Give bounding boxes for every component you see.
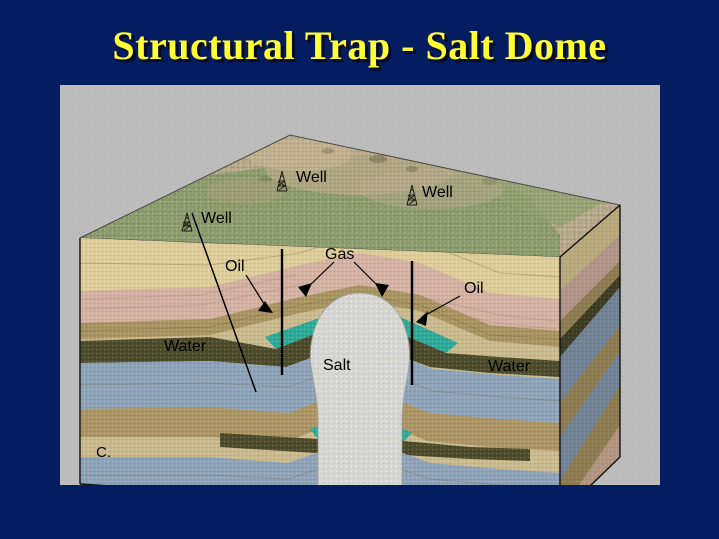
page-title: Structural Trap - Salt Dome bbox=[0, 22, 719, 69]
label-well-center: Well bbox=[296, 169, 327, 186]
salt-dome bbox=[310, 293, 409, 485]
figure-panel: Well Well Well Gas Oil Oil Water Water S… bbox=[60, 85, 660, 485]
label-water-right: Water bbox=[488, 358, 531, 375]
label-oil-left: Oil bbox=[225, 258, 245, 275]
label-well-right: Well bbox=[422, 184, 453, 201]
label-well-left: Well bbox=[201, 210, 232, 227]
label-gas: Gas bbox=[325, 246, 354, 263]
label-water-left: Water bbox=[164, 338, 207, 355]
slide-canvas: Structural Trap - Salt Dome bbox=[0, 0, 719, 539]
salt-dome-block-diagram: Well Well Well Gas Oil Oil Water Water S… bbox=[60, 85, 660, 485]
label-oil-right: Oil bbox=[464, 280, 484, 297]
figure-caption: C. bbox=[96, 444, 111, 461]
label-salt: Salt bbox=[323, 357, 351, 374]
